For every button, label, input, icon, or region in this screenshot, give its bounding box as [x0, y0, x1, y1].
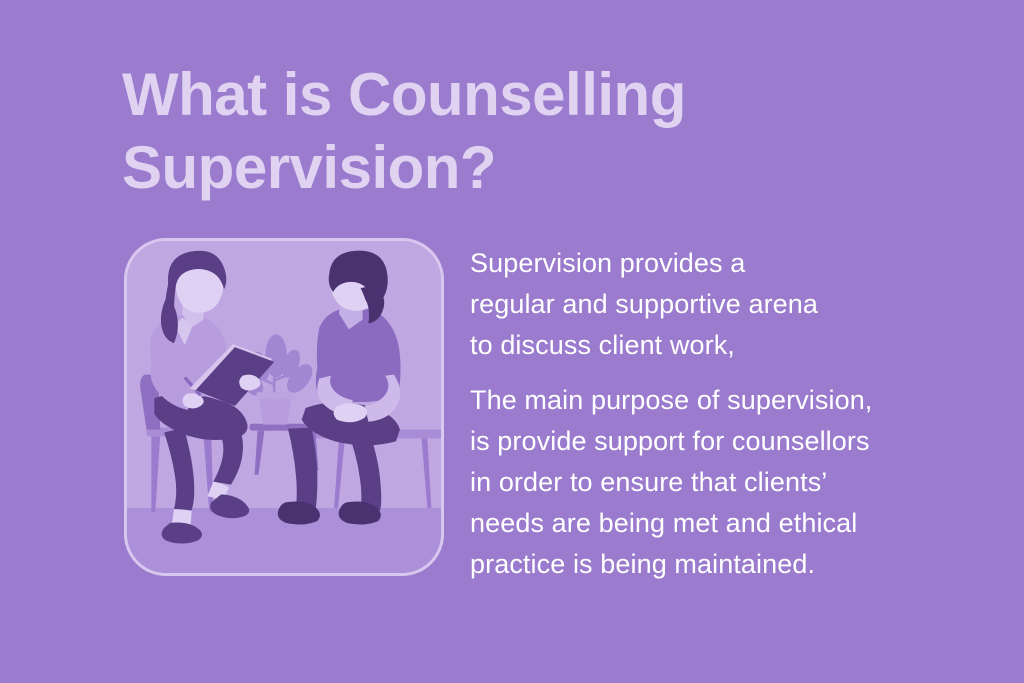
paragraph-1: Supervision provides a regular and suppo…	[470, 243, 970, 366]
paragraph-1-line-3: to discuss client work,	[470, 325, 970, 366]
paragraph-1-line-1: Supervision provides a	[470, 243, 970, 284]
paragraph-2-line-4: needs are being met and ethical	[470, 503, 970, 544]
counselling-session-illustration	[127, 241, 441, 573]
illustration-panel	[124, 238, 444, 576]
paragraph-2: The main purpose of supervision, is prov…	[470, 380, 970, 585]
paragraph-2-line-1: The main purpose of supervision,	[470, 380, 970, 421]
sock	[172, 509, 192, 525]
plant-pot	[258, 396, 291, 424]
page-title-line-1: What is Counselling	[122, 58, 882, 131]
paragraph-1-line-2: regular and supportive arena	[470, 284, 970, 325]
poster-canvas: What is Counselling Supervision?	[0, 0, 1024, 683]
page-title-line-2: Supervision?	[122, 131, 882, 204]
paragraph-2-line-5: practice is being maintained.	[470, 544, 970, 585]
paragraph-2-line-3: in order to ensure that clients’	[470, 462, 970, 503]
paragraph-2-line-2: is provide support for counsellors	[470, 421, 970, 462]
body-copy: Supervision provides a regular and suppo…	[470, 243, 970, 585]
page-title: What is Counselling Supervision?	[122, 58, 882, 204]
